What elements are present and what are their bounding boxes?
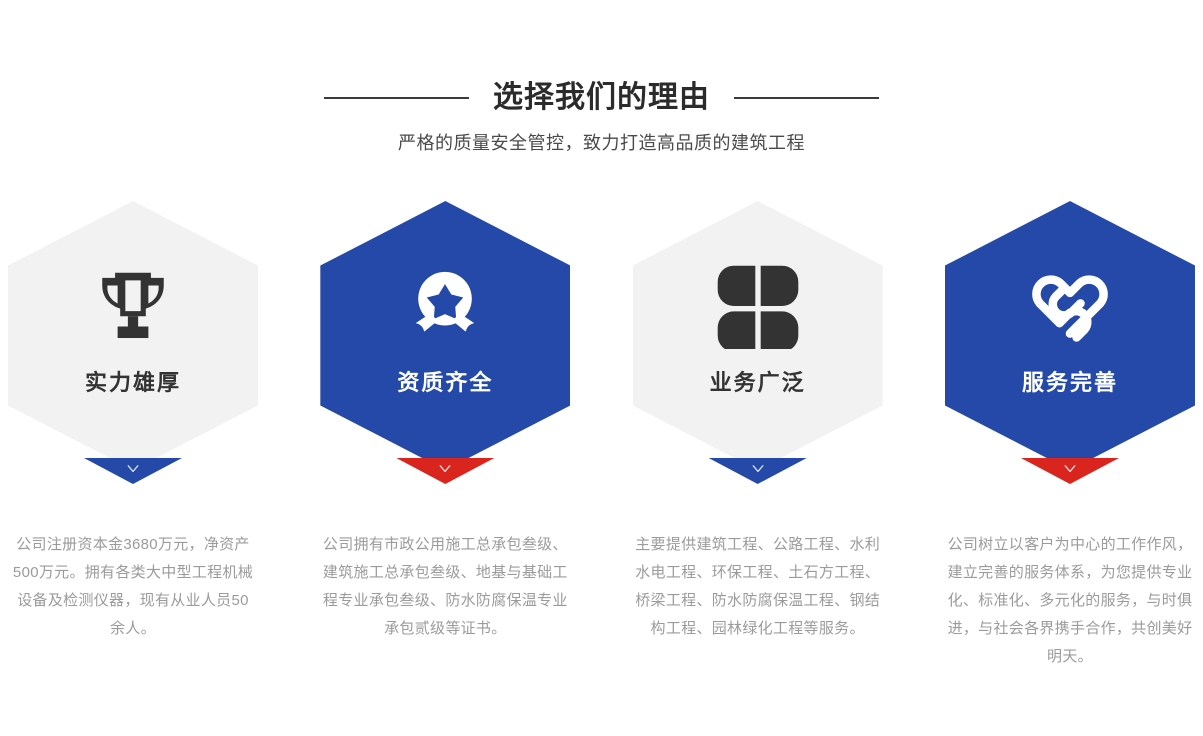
hexagon-wrapper[interactable]: 实力雄厚 <box>0 201 266 483</box>
trophy-icon <box>85 258 181 354</box>
feature-card-list: 实力雄厚 公司注册资本金3680万元，净资产500万元。拥有各类大中型工程机械设… <box>0 201 1203 671</box>
card-pointer[interactable] <box>709 458 807 484</box>
hexagon-wrapper[interactable]: 资质齐全 <box>312 201 578 483</box>
hexagon-wrapper[interactable]: 业务广泛 <box>625 201 891 483</box>
features-section: 选择我们的理由 严格的质量安全管控，致力打造高品质的建筑工程 <box>0 0 1203 736</box>
title-row: 选择我们的理由 <box>0 78 1203 118</box>
hexagon-tile[interactable]: 实力雄厚 <box>8 201 258 470</box>
feature-title: 实力雄厚 <box>85 368 181 398</box>
feature-title: 资质齐全 <box>397 368 493 398</box>
card-pointer[interactable] <box>396 458 494 484</box>
medal-star-icon <box>397 258 493 354</box>
hexagon-wrapper[interactable]: 服务完善 <box>937 201 1203 483</box>
feature-card[interactable]: 资质齐全 公司拥有市政公用施工总承包叁级、建筑施工总承包叁级、地基与基础工程专业… <box>312 201 578 643</box>
hexagon-tile[interactable]: 服务完善 <box>945 201 1195 470</box>
clover-icon <box>710 258 806 354</box>
title-rule-left <box>324 97 469 99</box>
feature-description: 公司注册资本金3680万元，净资产500万元。拥有各类大中型工程机械设备及检测仪… <box>10 531 256 643</box>
page-subtitle: 严格的质量安全管控，致力打造高品质的建筑工程 <box>0 130 1203 156</box>
feature-description: 公司拥有市政公用施工总承包叁级、建筑施工总承包叁级、地基与基础工程专业承包叁级、… <box>322 531 568 643</box>
feature-card[interactable]: 服务完善 公司树立以客户为中心的工作作风，建立完善的服务体系，为您提供专业化、标… <box>937 201 1203 671</box>
card-pointer[interactable] <box>1021 458 1119 484</box>
feature-description: 主要提供建筑工程、公路工程、水利水电工程、环保工程、土石方工程、桥梁工程、防水防… <box>635 531 881 643</box>
feature-description: 公司树立以客户为中心的工作作风，建立完善的服务体系，为您提供专业化、标准化、多元… <box>947 531 1193 671</box>
chevron-down-icon <box>437 461 453 477</box>
feature-title: 业务广泛 <box>710 368 806 398</box>
feature-title: 服务完善 <box>1022 368 1118 398</box>
page-title: 选择我们的理由 <box>493 78 710 118</box>
card-pointer[interactable] <box>84 458 182 484</box>
hexagon-tile[interactable]: 业务广泛 <box>633 201 883 470</box>
section-header: 选择我们的理由 严格的质量安全管控，致力打造高品质的建筑工程 <box>0 78 1203 156</box>
feature-card[interactable]: 业务广泛 主要提供建筑工程、公路工程、水利水电工程、环保工程、土石方工程、桥梁工… <box>625 201 891 643</box>
chevron-down-icon <box>750 461 766 477</box>
title-rule-right <box>734 97 879 99</box>
chevron-down-icon <box>125 461 141 477</box>
feature-card[interactable]: 实力雄厚 公司注册资本金3680万元，净资产500万元。拥有各类大中型工程机械设… <box>0 201 266 643</box>
chevron-down-icon <box>1062 461 1078 477</box>
hexagon-tile[interactable]: 资质齐全 <box>320 201 570 470</box>
linked-hearts-icon <box>1022 258 1118 354</box>
